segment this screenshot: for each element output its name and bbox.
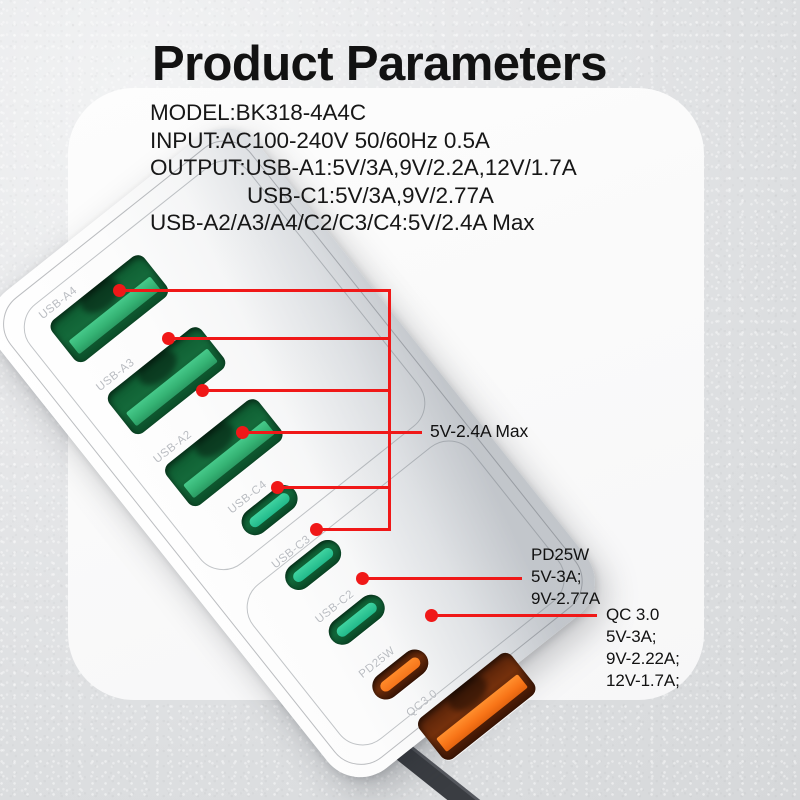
callout-label-qc30: QC 3.0 5V-3A; 9V-2.22A; 12V-1.7A;: [606, 604, 680, 692]
product-parameters-image: Product Parameters MODEL:BK318-4A4C INPU…: [0, 0, 800, 800]
page-title: Product Parameters: [152, 36, 607, 92]
spec-line-output: OUTPUT:USB-A1:5V/3A,9V/2.2A,12V/1.7A: [150, 154, 577, 182]
spec-line-shared: USB-A2/A3/A4/C2/C3/C4:5V/2.4A Max: [150, 209, 577, 237]
qc-line-4: 12V-1.7A;: [606, 670, 680, 692]
pd-line-2: 5V-3A;: [531, 566, 600, 588]
pd-line-3: 9V-2.77A: [531, 588, 600, 610]
pd-line-1: PD25W: [531, 544, 600, 566]
callout-label-pd25w: PD25W 5V-3A; 9V-2.77A: [531, 544, 600, 610]
qc-line-1: QC 3.0: [606, 604, 680, 626]
qc-line-3: 9V-2.22A;: [606, 648, 680, 670]
spec-line-usb-c1: USB-C1:5V/3A,9V/2.77A: [150, 182, 577, 210]
spec-line-model: MODEL:BK318-4A4C: [150, 99, 577, 127]
qc-line-2: 5V-3A;: [606, 626, 680, 648]
spec-line-input: INPUT:AC100-240V 50/60Hz 0.5A: [150, 127, 577, 155]
specifications-block: MODEL:BK318-4A4C INPUT:AC100-240V 50/60H…: [150, 99, 577, 237]
